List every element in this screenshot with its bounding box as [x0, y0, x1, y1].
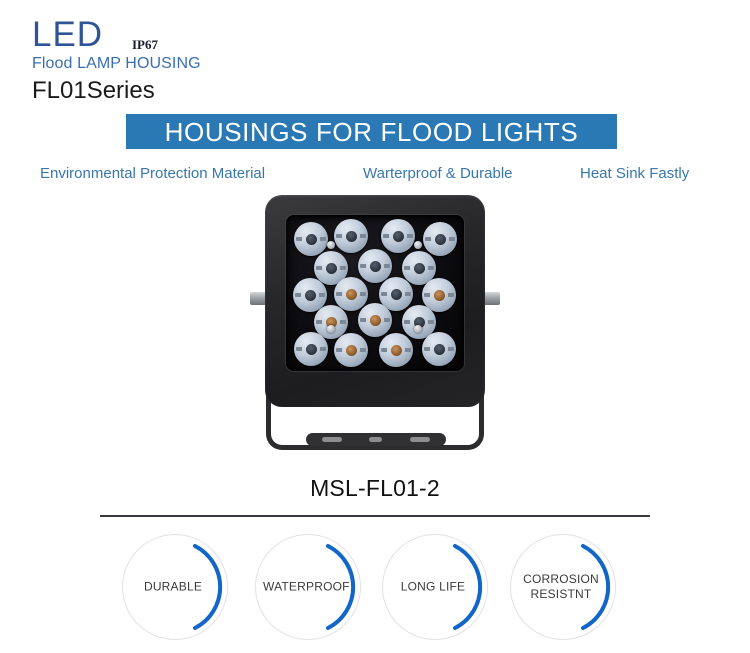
feature-badge-waterproof: WATERPROOF [255, 534, 361, 640]
led-wordmark: LED [32, 16, 103, 54]
led-lens [294, 222, 328, 256]
feature-badge-long-life: LONG LIFE [382, 534, 488, 640]
feature-caption-row: Environmental Protection Material Warter… [40, 163, 710, 185]
led-lens [334, 277, 368, 311]
badge-label: LONG LIFE [390, 580, 476, 595]
feature-caption-waterproof: Warterproof & Durable [363, 163, 513, 184]
retaining-screw [414, 325, 422, 333]
ip-rating-label: IP67 [132, 37, 158, 53]
series-name: FL01Series [32, 76, 155, 106]
bracket-hole-center [369, 437, 382, 442]
feature-caption-environmental: Environmental Protection Material [40, 163, 265, 184]
flood-light-housing-body [265, 195, 485, 407]
side-adjust-bolt-right [484, 292, 500, 305]
retaining-screw [327, 325, 335, 333]
badge-label: WATERPROOF [263, 580, 349, 595]
led-lens [423, 222, 457, 256]
led-lens [381, 219, 415, 253]
side-adjust-bolt-left [250, 292, 266, 305]
feature-badge-durable: DURABLE [122, 534, 228, 640]
bracket-slot-left [322, 437, 342, 442]
header-title-row: LED IP67 [32, 16, 432, 56]
header-subtitle: Flood LAMP HOUSING [32, 54, 201, 73]
led-lens [294, 332, 328, 366]
retaining-screw [327, 241, 335, 249]
section-divider [100, 515, 650, 517]
bracket-base-plate [306, 433, 446, 446]
led-lens [334, 219, 368, 253]
badge-label: CORROSIONRESISTNT [518, 572, 604, 602]
lens-recess [286, 215, 464, 371]
feature-badge-row: DURABLE WATERPROOF LONG LIFE CORROSIONRE… [0, 534, 750, 644]
product-image [248, 195, 502, 453]
led-lens [379, 333, 413, 367]
model-number: MSL-FL01-2 [0, 474, 750, 502]
feature-caption-heatsink: Heat Sink Fastly [580, 163, 689, 184]
headline-banner: HOUSINGS FOR FLOOD LIGHTS [126, 114, 617, 149]
led-array [286, 215, 464, 371]
led-lens [422, 332, 456, 366]
badge-label: DURABLE [130, 580, 216, 595]
product-header: LED IP67 Flood LAMP HOUSING FL01Series [32, 16, 432, 56]
led-lens [334, 333, 368, 367]
led-lens [358, 249, 392, 283]
retaining-screw [414, 241, 422, 249]
bracket-slot-right [410, 437, 430, 442]
headline-banner-text: HOUSINGS FOR FLOOD LIGHTS [165, 117, 579, 147]
feature-badge-corrosion-resistant: CORROSIONRESISTNT [510, 534, 616, 640]
led-lens [358, 303, 392, 337]
